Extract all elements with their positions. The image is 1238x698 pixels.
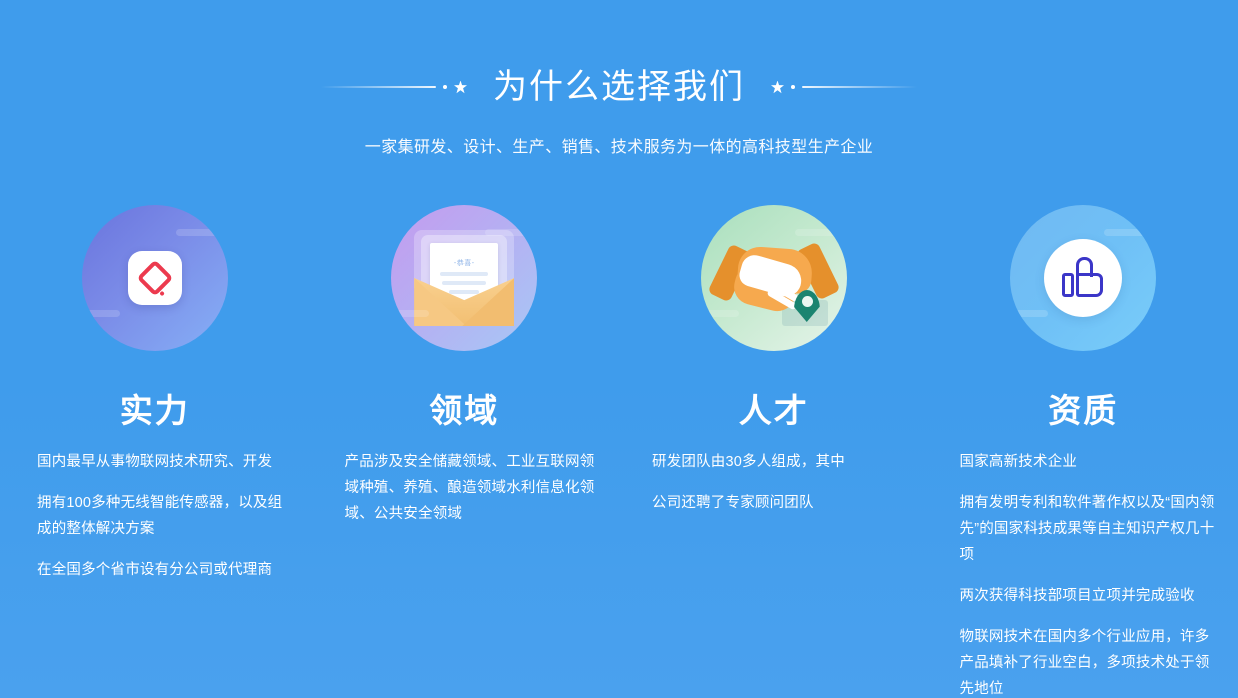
letter-text-line	[442, 281, 486, 285]
body-paragraph: 产品涉及安全储藏领域、工业互联网领域种殖、养殖、酿造领域水利信息化领域、公共安全…	[345, 449, 604, 527]
thumb-base	[1062, 273, 1074, 297]
why-choose-us-section: 为什么选择我们 一家集研发、设计、生产、销售、技术服务为一体的高科技型生产企业 …	[0, 0, 1238, 698]
body-paragraph: 国内最早从事物联网技术研究、开发	[37, 449, 294, 475]
thumb-palm	[1076, 273, 1103, 297]
envelope-letter-icon: -恭喜-	[391, 205, 537, 351]
body-paragraph: 国家高新技术企业	[960, 449, 1223, 475]
body-paragraph: 物联网技术在国内多个行业应用，许多产品填补了行业空白，多项技术处于领先地位	[960, 624, 1223, 698]
column-body: 研发团队由30多人组成，其中 公司还聘了专家顾问团队	[619, 449, 929, 516]
body-paragraph: 公司还聘了专家顾问团队	[652, 490, 913, 516]
star-icon	[454, 81, 467, 94]
letter-heading: -恭喜-	[443, 258, 485, 267]
letter-text-line	[449, 290, 479, 294]
column-title: 人才	[619, 393, 929, 429]
diamond-badge-icon	[82, 205, 228, 351]
section-header: 为什么选择我们 一家集研发、设计、生产、销售、技术服务为一体的高科技型生产企业	[0, 62, 1238, 156]
icon-disc	[1044, 239, 1122, 317]
icon-container	[619, 205, 929, 375]
thumb-graphic	[1062, 257, 1104, 299]
feature-column-qualification: 资质 国家高新技术企业 拥有发明专利和软件著作权以及“国内领先”的国家科技成果等…	[929, 205, 1238, 698]
decoration-line-right	[802, 86, 917, 88]
feature-column-talent: 人才 研发团队由30多人组成，其中 公司还聘了专家顾问团队	[619, 205, 929, 698]
star-icon	[771, 81, 784, 94]
thumbs-up-icon	[1010, 205, 1156, 351]
column-title: 实力	[0, 393, 310, 429]
body-paragraph: 拥有发明专利和软件著作权以及“国内领先”的国家科技成果等自主知识产权几十项	[960, 490, 1223, 568]
column-title: 资质	[929, 393, 1238, 429]
icon-tile	[128, 251, 182, 305]
icon-container: -恭喜-	[310, 205, 620, 375]
feature-column-field: -恭喜- 领域 产品涉及安全储藏领域、工业互联网领域种殖、养殖、酿造领域水利信息…	[310, 205, 620, 698]
letter-text-line	[440, 272, 488, 276]
diamond-icon	[136, 260, 173, 297]
column-body: 国家高新技术企业 拥有发明专利和软件著作权以及“国内领先”的国家科技成果等自主知…	[929, 449, 1238, 698]
decoration-line-left	[321, 86, 436, 88]
title-decoration-left	[321, 81, 467, 94]
page-subtitle: 一家集研发、设计、生产、销售、技术服务为一体的高科技型生产企业	[0, 140, 1238, 156]
page-title: 为什么选择我们	[493, 70, 745, 104]
handshake-graphic	[714, 230, 834, 326]
envelope-graphic: -恭喜-	[408, 230, 520, 326]
body-paragraph: 拥有100多种无线智能传感器，以及组成的整体解决方案	[37, 490, 294, 542]
decoration-dot-right	[791, 85, 795, 89]
icon-container	[929, 205, 1238, 375]
decoration-dot-left	[443, 85, 447, 89]
icon-container	[0, 205, 310, 375]
column-title: 领域	[310, 393, 620, 429]
title-row: 为什么选择我们	[0, 62, 1238, 112]
body-paragraph: 在全国多个省市设有分公司或代理商	[37, 557, 294, 583]
feature-columns: 实力 国内最早从事物联网技术研究、开发 拥有100多种无线智能传感器，以及组成的…	[0, 205, 1238, 698]
feature-column-strength: 实力 国内最早从事物联网技术研究、开发 拥有100多种无线智能传感器，以及组成的…	[0, 205, 310, 698]
location-pin-center	[802, 296, 813, 307]
body-paragraph: 两次获得科技部项目立项并完成验收	[960, 583, 1223, 609]
handshake-location-icon	[701, 205, 847, 351]
title-decoration-right	[771, 81, 917, 94]
column-body: 国内最早从事物联网技术研究、开发 拥有100多种无线智能传感器，以及组成的整体解…	[0, 449, 310, 583]
column-body: 产品涉及安全储藏领域、工业互联网领域种殖、养殖、酿造领域水利信息化领域、公共安全…	[310, 449, 620, 527]
body-paragraph: 研发团队由30多人组成，其中	[652, 449, 913, 475]
